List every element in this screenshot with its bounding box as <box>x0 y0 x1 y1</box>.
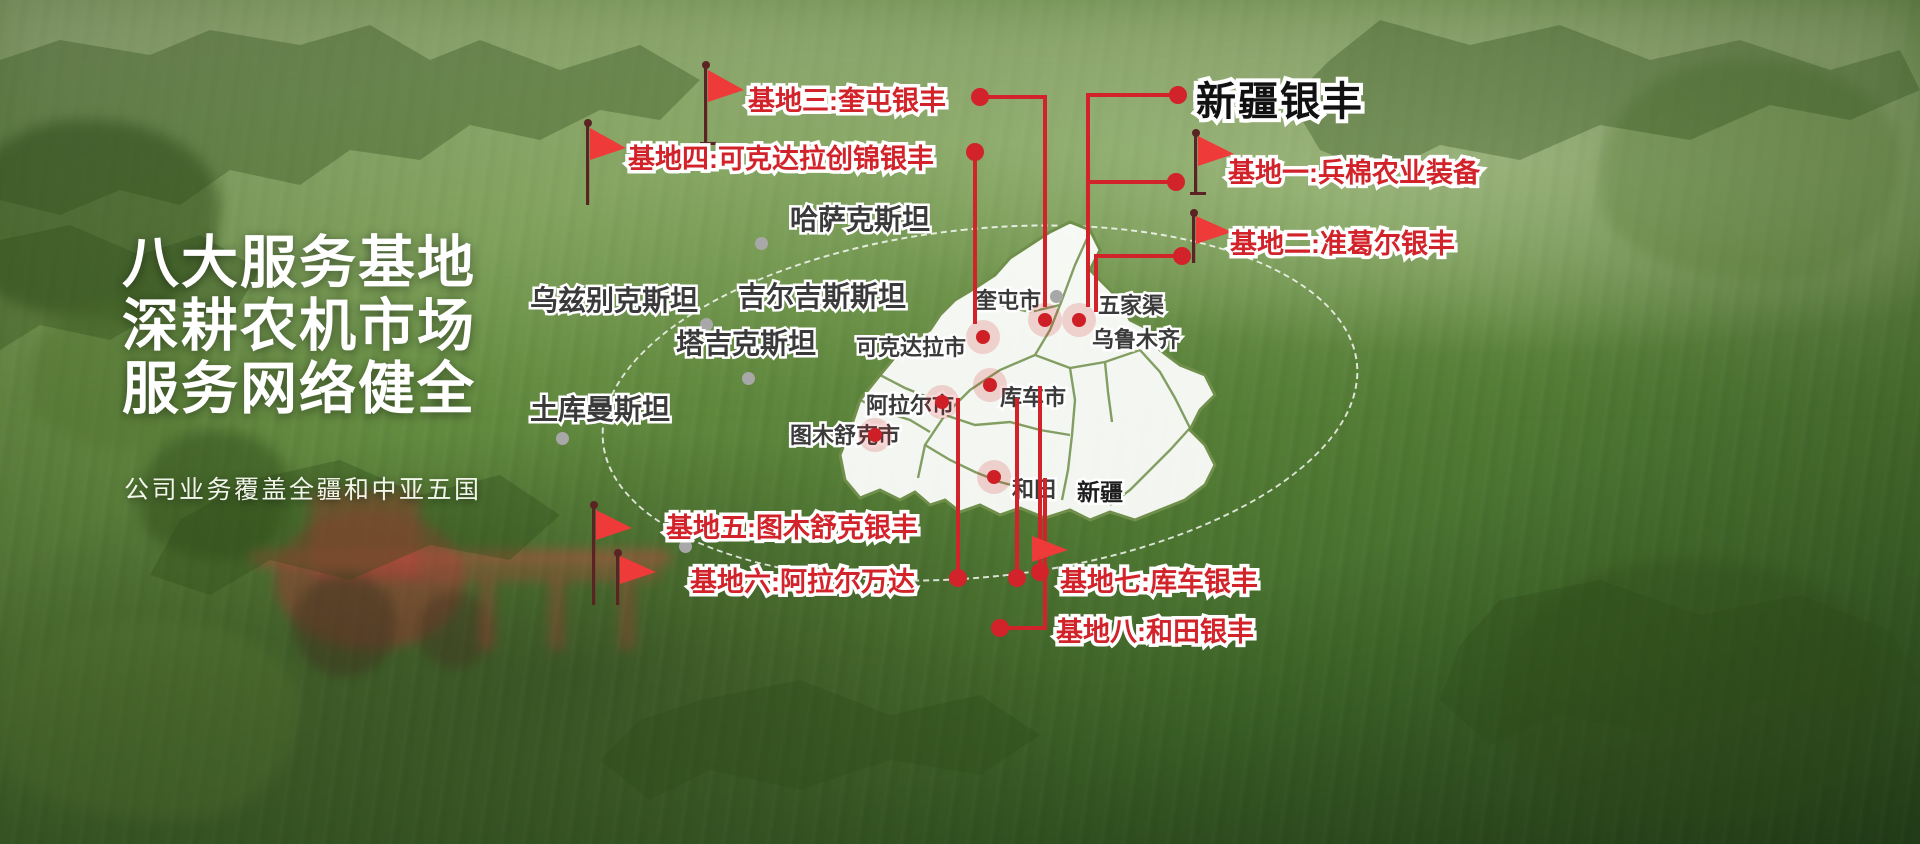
headline-line-3: 服务网络健全 <box>122 358 476 421</box>
country-label-uzbekistan: 乌兹别克斯坦 <box>530 279 698 319</box>
map-marker-kokdala[interactable] <box>966 320 1000 354</box>
city-dot-generic <box>742 372 755 385</box>
callout-base1-bingmian[interactable]: 基地一:兵棉农业装备 <box>1228 151 1480 190</box>
promo-banner: 八大服务基地 深耕农机市场 服务网络健全 公司业务覆盖全疆和中亚五国 <box>0 0 1920 844</box>
map-marker-wujiaqu[interactable] <box>1062 303 1096 337</box>
flag-icon-base2 <box>1188 208 1234 268</box>
map-marker-kuitun[interactable] <box>1028 303 1062 337</box>
callout-base4-kokdala[interactable]: 基地四:可克达拉创锦银丰 <box>628 137 934 176</box>
country-label-turkmenistan: 土库曼斯坦 <box>530 388 670 428</box>
map-marker-hetian[interactable] <box>977 460 1011 494</box>
flag-icon-base4 <box>582 118 628 210</box>
map-marker-alaer[interactable] <box>925 385 959 419</box>
city-label-kuche: 库车市 <box>1000 380 1066 412</box>
city-dot-generic <box>755 237 768 250</box>
xinjiang-map <box>0 0 1920 844</box>
city-label-hetian: 和田 <box>1012 472 1056 504</box>
callout-base5-tumushuke[interactable]: 基地五:图木舒克银丰 <box>666 506 918 545</box>
headline-line-2: 深耕农机市场 <box>122 295 476 358</box>
city-label-urumqi: 乌鲁木齐 <box>1092 322 1180 354</box>
country-label-kazakhstan: 哈萨克斯坦 <box>790 198 930 238</box>
headline-subtitle: 公司业务覆盖全疆和中亚五国 <box>124 470 482 506</box>
flag-icon-base6 <box>612 548 658 610</box>
map-marker-tumushuke[interactable] <box>858 418 892 452</box>
callout-base2-zhungeer[interactable]: 基地二:准葛尔银丰 <box>1230 222 1455 261</box>
callout-base3-kuitun[interactable]: 基地三:奎屯银丰 <box>748 79 946 118</box>
map-marker-kuche[interactable] <box>973 368 1007 402</box>
headline-block: 八大服务基地 深耕农机市场 服务网络健全 <box>122 232 476 421</box>
city-label-wujiaqu: 五家渠 <box>1098 288 1164 320</box>
callout-base8-hetian[interactable]: 基地八:和田银丰 <box>1056 610 1254 649</box>
city-label-kokdala: 可克达拉市 <box>856 330 966 362</box>
callout-base7-kuche[interactable]: 基地七:库车银丰 <box>1060 560 1258 599</box>
callout-base6-alaer[interactable]: 基地六:阿拉尔万达 <box>690 560 915 599</box>
country-label-tajikistan: 塔吉克斯坦 <box>676 322 816 362</box>
city-dot-generic <box>556 432 569 445</box>
country-label-kyrgyzstan: 吉尔吉斯斯坦 <box>738 275 906 315</box>
province-label-xinjiang: 新疆 <box>1077 473 1123 507</box>
headline-line-1: 八大服务基地 <box>122 232 476 295</box>
city-dot-generic <box>1050 290 1063 303</box>
brand-title: 新疆银丰 <box>1196 69 1364 127</box>
